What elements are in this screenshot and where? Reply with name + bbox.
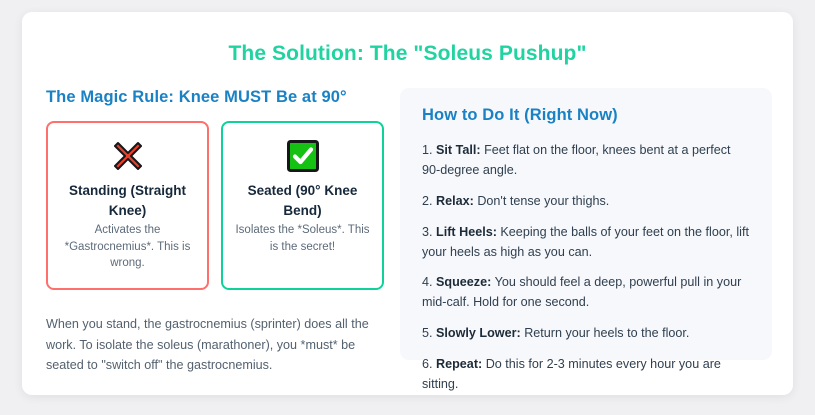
instruction-step: 5. Slowly Lower: Return your heels to th… xyxy=(422,324,750,344)
comparison-card-description: Isolates the *Soleus*. This is the secre… xyxy=(233,222,372,255)
instruction-step: 1. Sit Tall: Feet flat on the floor, kne… xyxy=(422,141,750,181)
step-label: Squeeze: xyxy=(436,275,491,289)
how-to-panel: How to Do It (Right Now) 1. Sit Tall: Fe… xyxy=(400,88,772,360)
comparison-card-standing[interactable]: Standing (Straight Knee) Activates the *… xyxy=(46,121,209,290)
comparison-card-seated[interactable]: Seated (90° Knee Bend) Isolates the *Sol… xyxy=(221,121,384,290)
comparison-cards: Standing (Straight Knee) Activates the *… xyxy=(46,121,401,290)
explanation-note: When you stand, the gastrocnemius (sprin… xyxy=(46,314,376,375)
check-mark-button-icon xyxy=(233,137,372,175)
comparison-card-title: Seated (90° Knee Bend) xyxy=(233,181,372,220)
step-label: Sit Tall: xyxy=(436,143,481,157)
comparison-card-description: Activates the *Gastrocnemius*. This is w… xyxy=(58,222,197,272)
magic-rule-heading: The Magic Rule: Knee MUST Be at 90° xyxy=(46,88,401,107)
cross-mark-icon xyxy=(58,137,197,175)
content-card: The Solution: The "Soleus Pushup" The Ma… xyxy=(22,12,793,395)
how-to-heading: How to Do It (Right Now) xyxy=(422,106,750,125)
page-title: The Solution: The "Soleus Pushup" xyxy=(22,42,793,66)
comparison-card-title: Standing (Straight Knee) xyxy=(58,181,197,220)
step-label: Slowly Lower: xyxy=(436,326,521,340)
step-number: 4. xyxy=(422,275,433,289)
step-label: Lift Heels: xyxy=(436,225,497,239)
step-label: Relax: xyxy=(436,194,474,208)
step-number: 6. xyxy=(422,357,433,371)
step-number: 1. xyxy=(422,143,433,157)
instruction-step: 4. Squeeze: You should feel a deep, powe… xyxy=(422,273,750,313)
step-number: 5. xyxy=(422,326,433,340)
instruction-step: 3. Lift Heels: Keeping the balls of your… xyxy=(422,223,750,263)
magic-rule-section: The Magic Rule: Knee MUST Be at 90° Stan… xyxy=(46,88,401,375)
step-number: 2. xyxy=(422,194,433,208)
step-text: Don't tense your thighs. xyxy=(477,194,609,208)
step-number: 3. xyxy=(422,225,433,239)
instruction-step: 2. Relax: Don't tense your thighs. xyxy=(422,192,750,212)
instruction-step: 6. Repeat: Do this for 2-3 minutes every… xyxy=(422,355,750,395)
step-text: Return your heels to the floor. xyxy=(524,326,689,340)
step-label: Repeat: xyxy=(436,357,482,371)
